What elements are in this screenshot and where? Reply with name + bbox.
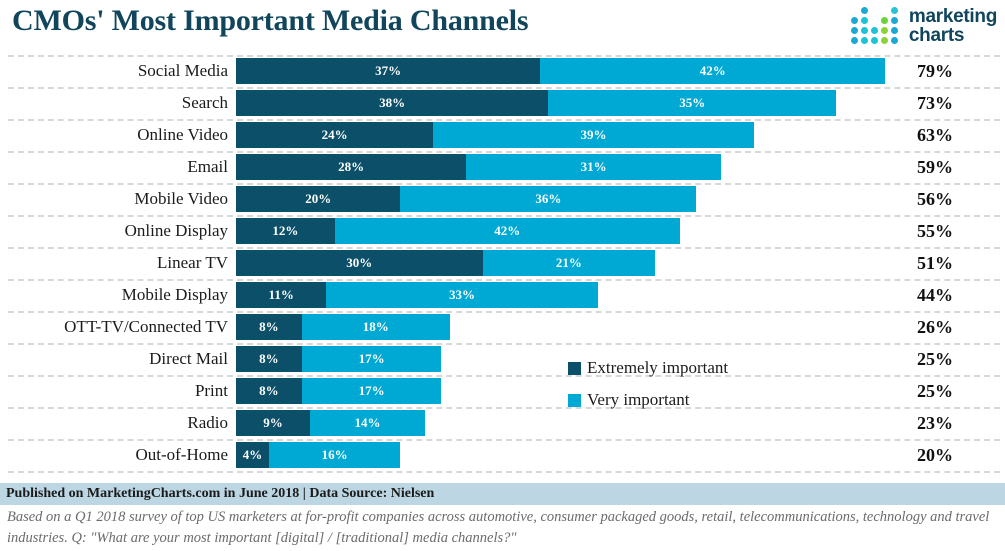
logo-dot-3 xyxy=(881,7,888,14)
row-total-value: 20% xyxy=(880,439,990,471)
bar-segment-extremely-important[interactable]: 38% xyxy=(236,90,548,116)
chart-row: Mobile Display11%33%44% xyxy=(0,279,1005,311)
footer-methodology-note: Based on a Q1 2018 survey of top US mark… xyxy=(7,507,992,549)
logo-dot-17 xyxy=(871,37,878,44)
bar-segment-extremely-important[interactable]: 8% xyxy=(236,314,302,340)
bar-segment-very-important[interactable]: 33% xyxy=(326,282,597,308)
bar-segment-very-important[interactable]: 36% xyxy=(400,186,696,212)
chart-row: Email28%31%59% xyxy=(0,151,1005,183)
row-total-value: 79% xyxy=(880,55,990,87)
logo-wordmark: marketing charts xyxy=(909,7,997,45)
bar-segment-extremely-important[interactable]: 37% xyxy=(236,58,540,84)
category-label: Mobile Video xyxy=(0,183,228,215)
stacked-bar[interactable]: 38%35% xyxy=(236,90,836,116)
chart-row: Radio9%14%23% xyxy=(0,407,1005,439)
row-total-value: 56% xyxy=(880,183,990,215)
row-total-value: 55% xyxy=(880,215,990,247)
logo-dot-10 xyxy=(851,27,858,34)
row-total-value: 25% xyxy=(880,343,990,375)
stacked-bar[interactable]: 8%17% xyxy=(236,378,442,404)
category-label: OTT-TV/Connected TV xyxy=(0,311,228,343)
logo-dot-4 xyxy=(891,7,898,14)
stacked-bar[interactable]: 8%18% xyxy=(236,314,450,340)
logo-dot-8 xyxy=(881,17,888,24)
logo-dot-5 xyxy=(851,17,858,24)
category-label: Out-of-Home xyxy=(0,439,228,471)
bar-segment-extremely-important[interactable]: 11% xyxy=(236,282,326,308)
bar-segment-extremely-important[interactable]: 20% xyxy=(236,186,400,212)
bar-segment-extremely-important[interactable]: 8% xyxy=(236,378,302,404)
stacked-bar[interactable]: 11%33% xyxy=(236,282,598,308)
category-label: Linear TV xyxy=(0,247,228,279)
bar-segment-very-important[interactable]: 31% xyxy=(466,154,721,180)
logo-dot-6 xyxy=(861,17,868,24)
category-label: Online Display xyxy=(0,215,228,247)
category-label: Search xyxy=(0,87,228,119)
category-label: Direct Mail xyxy=(0,343,228,375)
bar-segment-very-important[interactable]: 35% xyxy=(548,90,836,116)
bar-segment-very-important[interactable]: 18% xyxy=(302,314,450,340)
stacked-bar[interactable]: 9%14% xyxy=(236,410,425,436)
stacked-bar[interactable]: 24%39% xyxy=(236,122,754,148)
legend-label: Extremely important xyxy=(587,358,728,378)
bar-segment-extremely-important[interactable]: 24% xyxy=(236,122,433,148)
row-total-value: 63% xyxy=(880,119,990,151)
logo-dot-0 xyxy=(851,7,858,14)
legend-label: Very important xyxy=(587,390,689,410)
category-label: Radio xyxy=(0,407,228,439)
stacked-bar[interactable]: 4%16% xyxy=(236,442,400,468)
legend-item[interactable]: Very important xyxy=(568,384,818,416)
marketingcharts-logo: marketing charts xyxy=(851,4,997,48)
gridline xyxy=(8,471,1000,473)
logo-dot-9 xyxy=(891,17,898,24)
row-total-value: 44% xyxy=(880,279,990,311)
footer-published-line: Published on MarketingCharts.com in June… xyxy=(0,483,1005,505)
stacked-bar[interactable]: 30%21% xyxy=(236,250,655,276)
bar-segment-very-important[interactable]: 14% xyxy=(310,410,425,436)
legend-swatch-icon xyxy=(568,362,581,375)
bar-segment-very-important[interactable]: 17% xyxy=(302,346,442,372)
chart-row: OTT-TV/Connected TV8%18%26% xyxy=(0,311,1005,343)
category-label: Mobile Display xyxy=(0,279,228,311)
page-title: CMOs' Most Important Media Channels xyxy=(12,4,528,38)
bar-segment-very-important[interactable]: 42% xyxy=(540,58,885,84)
row-total-value: 59% xyxy=(880,151,990,183)
chart-legend: Extremely importantVery important xyxy=(568,352,818,416)
category-label: Email xyxy=(0,151,228,183)
stacked-bar[interactable]: 8%17% xyxy=(236,346,442,372)
logo-dot-12 xyxy=(871,27,878,34)
stacked-bar[interactable]: 28%31% xyxy=(236,154,721,180)
row-total-value: 26% xyxy=(880,311,990,343)
bar-segment-extremely-important[interactable]: 28% xyxy=(236,154,466,180)
bar-segment-extremely-important[interactable]: 12% xyxy=(236,218,335,244)
bar-segment-very-important[interactable]: 42% xyxy=(335,218,680,244)
chart-row: Linear TV30%21%51% xyxy=(0,247,1005,279)
stacked-bar[interactable]: 20%36% xyxy=(236,186,696,212)
logo-dot-1 xyxy=(861,7,868,14)
chart-row: Search38%35%73% xyxy=(0,87,1005,119)
logo-dot-2 xyxy=(871,7,878,14)
chart-footer: Published on MarketingCharts.com in June… xyxy=(0,480,1005,551)
stacked-bar-chart: Social Media37%42%79%Search38%35%73%Onli… xyxy=(0,52,1005,480)
category-label: Social Media xyxy=(0,55,228,87)
bar-segment-very-important[interactable]: 21% xyxy=(483,250,656,276)
row-total-value: 23% xyxy=(880,407,990,439)
chart-row: Out-of-Home4%16%20% xyxy=(0,439,1005,471)
logo-dot-matrix-icon xyxy=(851,7,900,46)
logo-dot-13 xyxy=(881,27,888,34)
logo-word-line2: charts xyxy=(909,26,997,45)
legend-item[interactable]: Extremely important xyxy=(568,352,818,384)
bar-segment-extremely-important[interactable]: 8% xyxy=(236,346,302,372)
logo-dot-16 xyxy=(861,37,868,44)
chart-row: Online Display12%42%55% xyxy=(0,215,1005,247)
bar-segment-extremely-important[interactable]: 9% xyxy=(236,410,310,436)
logo-dot-11 xyxy=(861,27,868,34)
bar-segment-very-important[interactable]: 39% xyxy=(433,122,754,148)
row-total-value: 73% xyxy=(880,87,990,119)
chart-row: Print8%17%25% xyxy=(0,375,1005,407)
logo-word-line1: marketing xyxy=(909,7,997,26)
row-total-value: 25% xyxy=(880,375,990,407)
stacked-bar[interactable]: 12%42% xyxy=(236,218,680,244)
bar-segment-extremely-important[interactable]: 4% xyxy=(236,442,269,468)
legend-swatch-icon xyxy=(568,394,581,407)
logo-dot-14 xyxy=(891,27,898,34)
row-total-value: 51% xyxy=(880,247,990,279)
logo-dot-15 xyxy=(851,37,858,44)
logo-dot-19 xyxy=(891,37,898,44)
chart-row: Online Video24%39%63% xyxy=(0,119,1005,151)
chart-row: Social Media37%42%79% xyxy=(0,55,1005,87)
category-label: Online Video xyxy=(0,119,228,151)
bar-segment-very-important[interactable]: 16% xyxy=(269,442,401,468)
logo-dot-7 xyxy=(871,17,878,24)
bar-segment-very-important[interactable]: 17% xyxy=(302,378,442,404)
chart-header: CMOs' Most Important Media Channels mark… xyxy=(0,0,1005,52)
chart-row: Direct Mail8%17%25% xyxy=(0,343,1005,375)
stacked-bar[interactable]: 37%42% xyxy=(236,58,885,84)
logo-dot-18 xyxy=(881,37,888,44)
category-label: Print xyxy=(0,375,228,407)
bar-segment-extremely-important[interactable]: 30% xyxy=(236,250,483,276)
chart-row: Mobile Video20%36%56% xyxy=(0,183,1005,215)
